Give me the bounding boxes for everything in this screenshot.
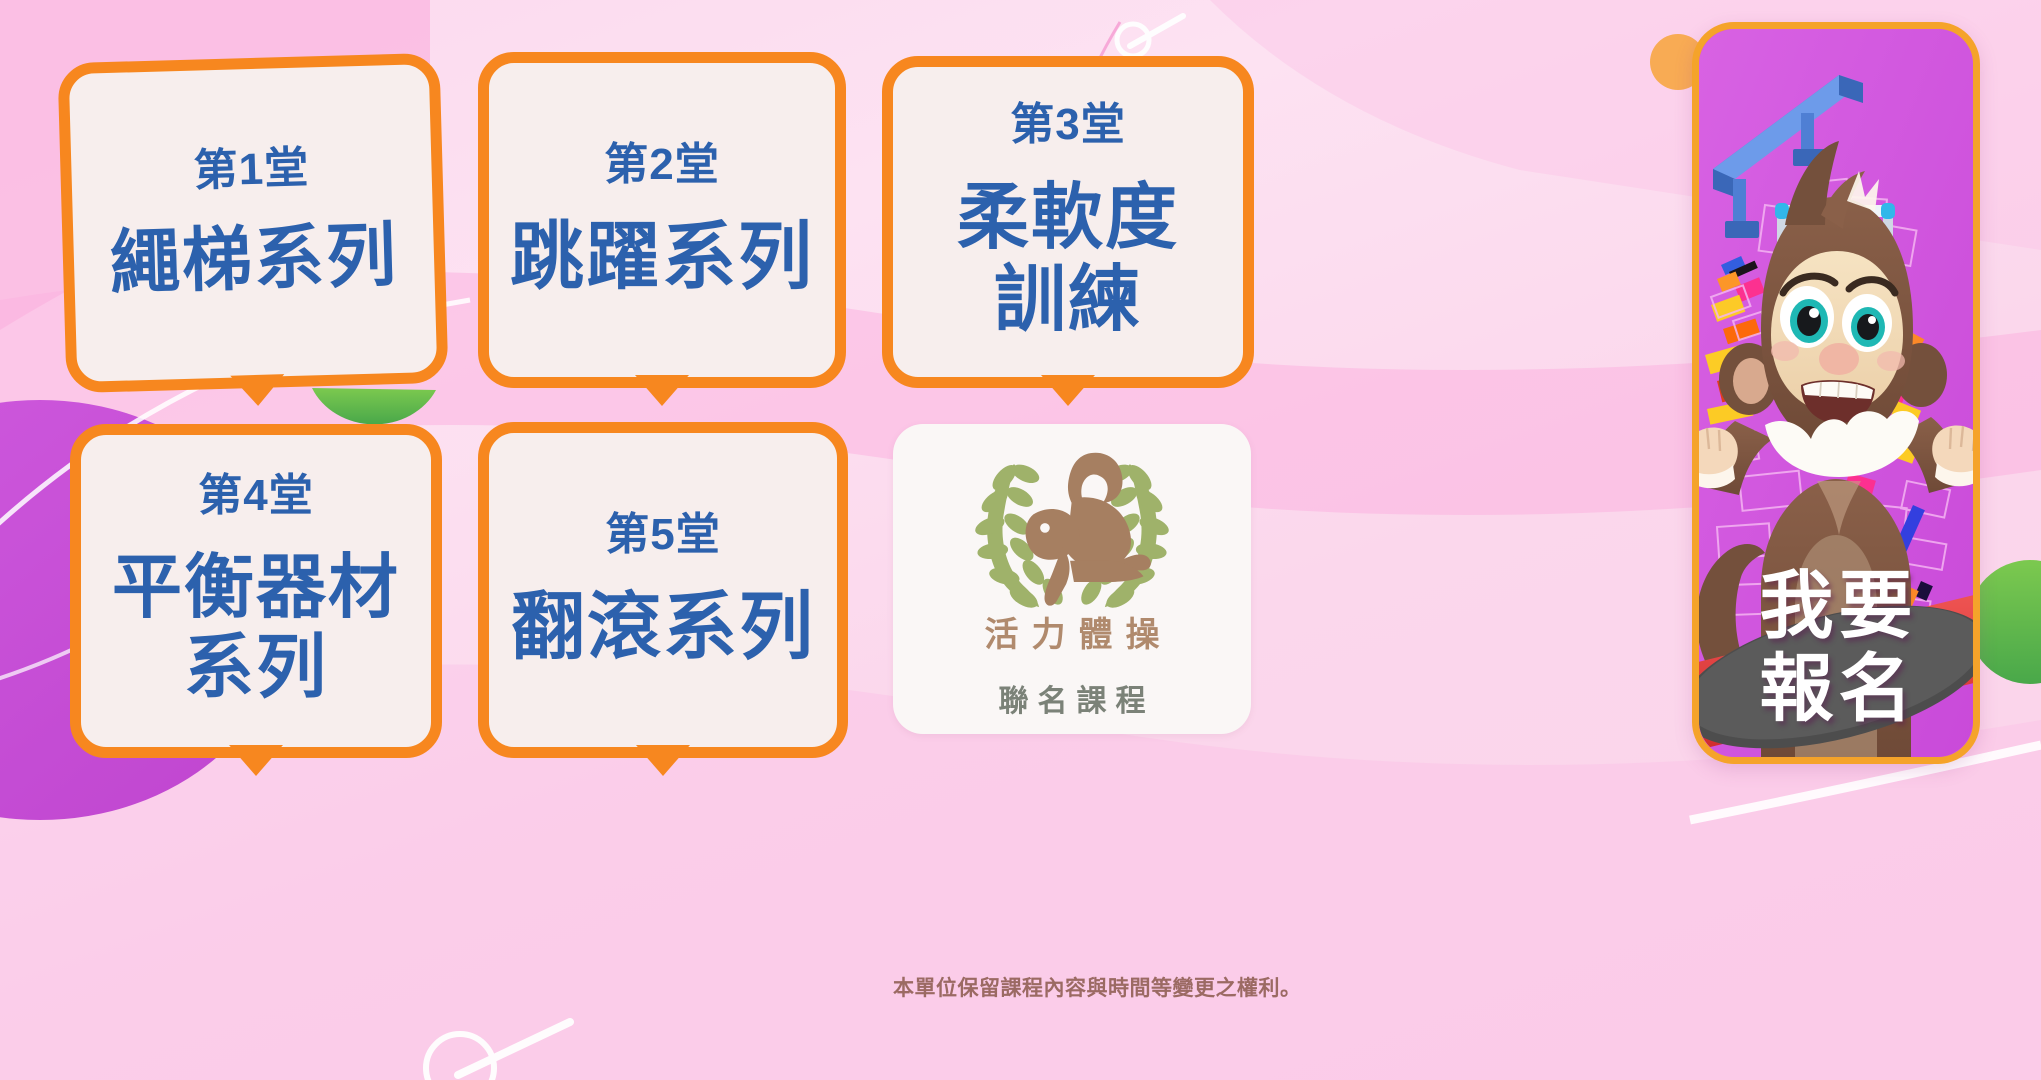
card-pointer-triangle (229, 745, 283, 776)
squirrel-laurel-icon (956, 439, 1188, 611)
course-card-1[interactable]: 第1堂 繩梯系列 (57, 53, 448, 394)
lesson-number: 第4堂 (198, 474, 313, 518)
lesson-number: 第2堂 (604, 143, 719, 187)
signup-cta-text[interactable]: 我要 報名 (1699, 565, 1973, 731)
lesson-number: 第5堂 (605, 513, 720, 557)
lesson-title: 翻滾系列 (511, 587, 815, 667)
lesson-title: 跳躍系列 (510, 217, 814, 297)
cta-line-2: 報名 (1699, 648, 1973, 731)
course-card-4[interactable]: 第4堂 平衡器材 系列 (70, 424, 442, 758)
course-card-2[interactable]: 第2堂 跳躍系列 (478, 52, 846, 388)
cta-line-1: 我要 (1699, 565, 1973, 648)
card-pointer-triangle (636, 745, 690, 776)
lesson-number: 第3堂 (1010, 103, 1125, 147)
signup-mascot-panel[interactable]: 我要 報名 (1692, 22, 1980, 764)
course-card-5[interactable]: 第5堂 翻滾系列 (478, 422, 848, 758)
logo-brand-text: 活力體操 (972, 607, 1173, 656)
card-pointer-triangle (230, 374, 285, 406)
lesson-title: 柔軟度 訓練 (957, 177, 1179, 341)
lesson-title: 繩梯系列 (109, 218, 399, 302)
partner-logo-card: 活力體操 聯名課程 (893, 424, 1251, 734)
poster-canvas: 第1堂 繩梯系列 第2堂 跳躍系列 第3堂 柔軟度 訓練 第4堂 平衡器材 系列… (0, 0, 2041, 1080)
course-card-3[interactable]: 第3堂 柔軟度 訓練 (882, 56, 1254, 388)
lesson-number: 第1堂 (193, 147, 310, 194)
card-pointer-triangle (1041, 375, 1095, 406)
disclaimer-text: 本單位保留課程內容與時間等變更之權利。 (893, 972, 1363, 1002)
card-pointer-triangle (635, 375, 689, 406)
course-cards-grid: 第1堂 繩梯系列 第2堂 跳躍系列 第3堂 柔軟度 訓練 第4堂 平衡器材 系列… (0, 0, 1660, 1080)
logo-subtitle-text: 聯名課程 (990, 676, 1155, 720)
lesson-title: 平衡器材 系列 (112, 548, 400, 708)
